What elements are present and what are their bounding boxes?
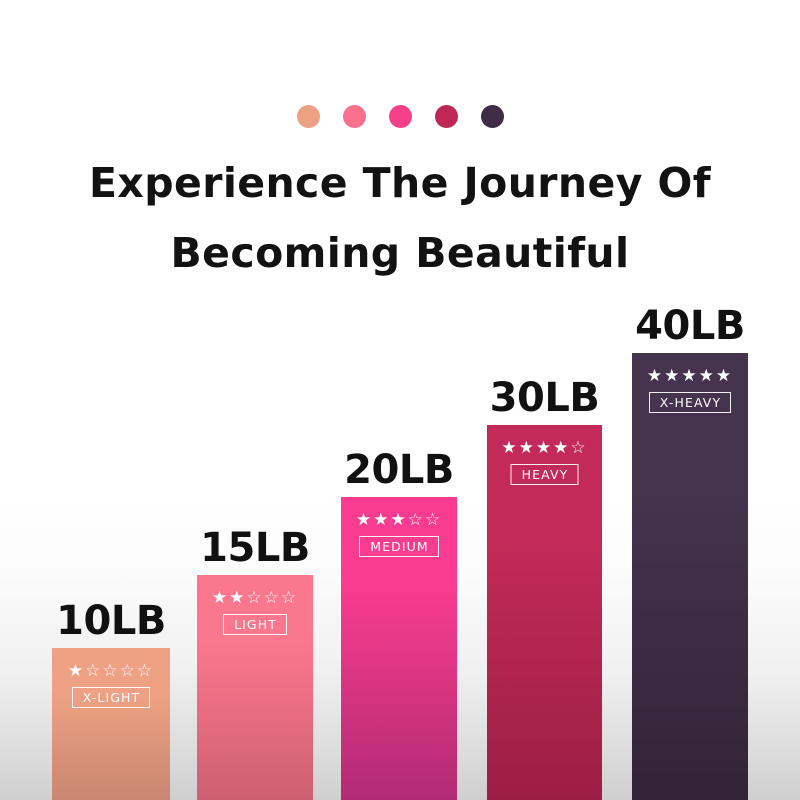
bar-10lb-weight-label: 10LB	[56, 601, 166, 641]
bar-10lb-rating-stars: ★☆☆☆☆	[52, 662, 170, 681]
bar-20lb-level-tag: MEDIUM	[359, 536, 439, 557]
bar-40lb[interactable]: ★★★★★X-HEAVY	[632, 353, 748, 800]
bar-30lb-level-tag: HEAVY	[511, 464, 579, 485]
bar-20lb-group: 20LB★★★☆☆MEDIUM	[341, 437, 457, 800]
bar-30lb-weight-label: 30LB	[490, 378, 600, 418]
bar-20lb-weight-label: 20LB	[344, 450, 454, 490]
bar-40lb-level-tag: X-HEAVY	[649, 392, 731, 413]
bar-30lb[interactable]: ★★★★☆HEAVY	[487, 425, 602, 800]
bar-10lb-group: 10LB★☆☆☆☆X-LIGHT	[52, 588, 170, 800]
bar-20lb-rating-stars: ★★★☆☆	[341, 511, 457, 530]
bar-15lb-group: 15LB★★☆☆☆LIGHT	[197, 515, 313, 800]
bar-10lb-badge: ★☆☆☆☆X-LIGHT	[52, 662, 170, 708]
bar-15lb-rating-stars: ★★☆☆☆	[197, 589, 313, 608]
bar-15lb[interactable]: ★★☆☆☆LIGHT	[197, 575, 313, 800]
bar-30lb-group: 30LB★★★★☆HEAVY	[487, 365, 602, 800]
bar-40lb-badge: ★★★★★X-HEAVY	[632, 367, 748, 413]
bar-40lb-group: 40LB★★★★★X-HEAVY	[632, 293, 748, 800]
bar-15lb-weight-label: 15LB	[200, 528, 310, 568]
bar-20lb-badge: ★★★☆☆MEDIUM	[341, 511, 457, 557]
bar-20lb[interactable]: ★★★☆☆MEDIUM	[341, 497, 457, 800]
bar-10lb-level-tag: X-LIGHT	[72, 687, 151, 708]
bar-30lb-rating-stars: ★★★★☆	[487, 439, 602, 458]
bar-10lb[interactable]: ★☆☆☆☆X-LIGHT	[52, 648, 170, 800]
bar-40lb-weight-label: 40LB	[635, 306, 745, 346]
bar-15lb-level-tag: LIGHT	[223, 614, 287, 635]
bar-40lb-rating-stars: ★★★★★	[632, 367, 748, 386]
bar-30lb-badge: ★★★★☆HEAVY	[487, 439, 602, 485]
resistance-bar-chart: 10LB★☆☆☆☆X-LIGHT15LB★★☆☆☆LIGHT20LB★★★☆☆M…	[0, 0, 800, 800]
bar-15lb-badge: ★★☆☆☆LIGHT	[197, 589, 313, 635]
